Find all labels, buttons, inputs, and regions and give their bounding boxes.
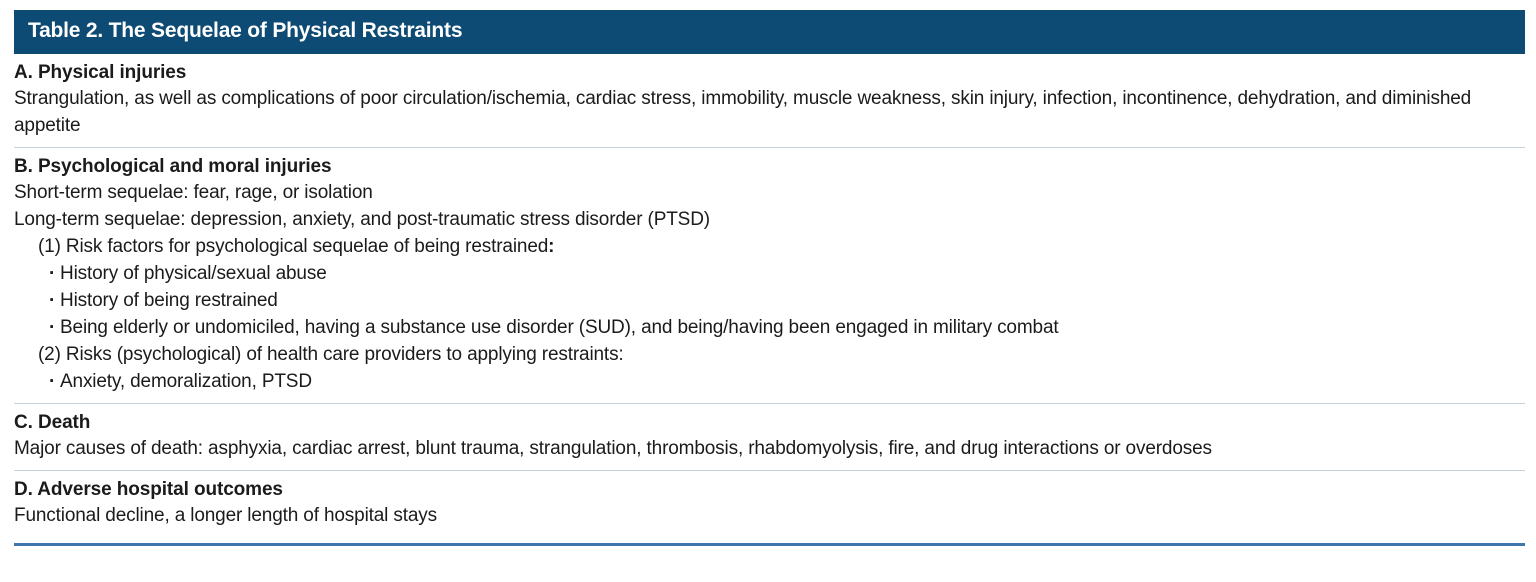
table-bottom-rule [14, 543, 1525, 546]
section-b-title: B. Psychological and moral injuries [14, 154, 1525, 180]
section-d-body: Functional decline, a longer length of h… [14, 503, 1525, 530]
list-item: Being elderly or undomiciled, having a s… [14, 315, 1525, 342]
list-item: History of physical/sexual abuse [14, 261, 1525, 288]
list-item: Anxiety, demoralization, PTSD [14, 369, 1525, 396]
table-section-b: B. Psychological and moral injuries Shor… [14, 147, 1525, 403]
section-a-title: A. Physical injuries [14, 60, 1525, 86]
section-b-item-1-text: (1) Risk factors for psychological seque… [38, 236, 548, 257]
section-d-title: D. Adverse hospital outcomes [14, 477, 1525, 503]
table-caption-header: Table 2. The Sequelae of Physical Restra… [14, 10, 1525, 54]
section-a-body: Strangulation, as well as complications … [14, 86, 1525, 140]
section-c-title: C. Death [14, 410, 1525, 436]
table-section-c: C. Death Major causes of death: asphyxia… [14, 403, 1525, 470]
section-c-body: Major causes of death: asphyxia, cardiac… [14, 436, 1525, 463]
list-item: History of being restrained [14, 288, 1525, 315]
table-section-a: A. Physical injuries Strangulation, as w… [14, 54, 1525, 147]
table-section-d: D. Adverse hospital outcomes Functional … [14, 470, 1525, 537]
section-b-short-term-line: Short-term sequelae: fear, rage, or isol… [14, 180, 1525, 207]
section-b-long-term-line: Long-term sequelae: depression, anxiety,… [14, 207, 1525, 234]
section-b-item-1-colon: : [548, 236, 554, 257]
table-container: Table 2. The Sequelae of Physical Restra… [14, 10, 1525, 546]
section-b-item-1: (1) Risk factors for psychological seque… [14, 234, 1525, 261]
section-b-item-2: (2) Risks (psychological) of health care… [14, 342, 1525, 369]
